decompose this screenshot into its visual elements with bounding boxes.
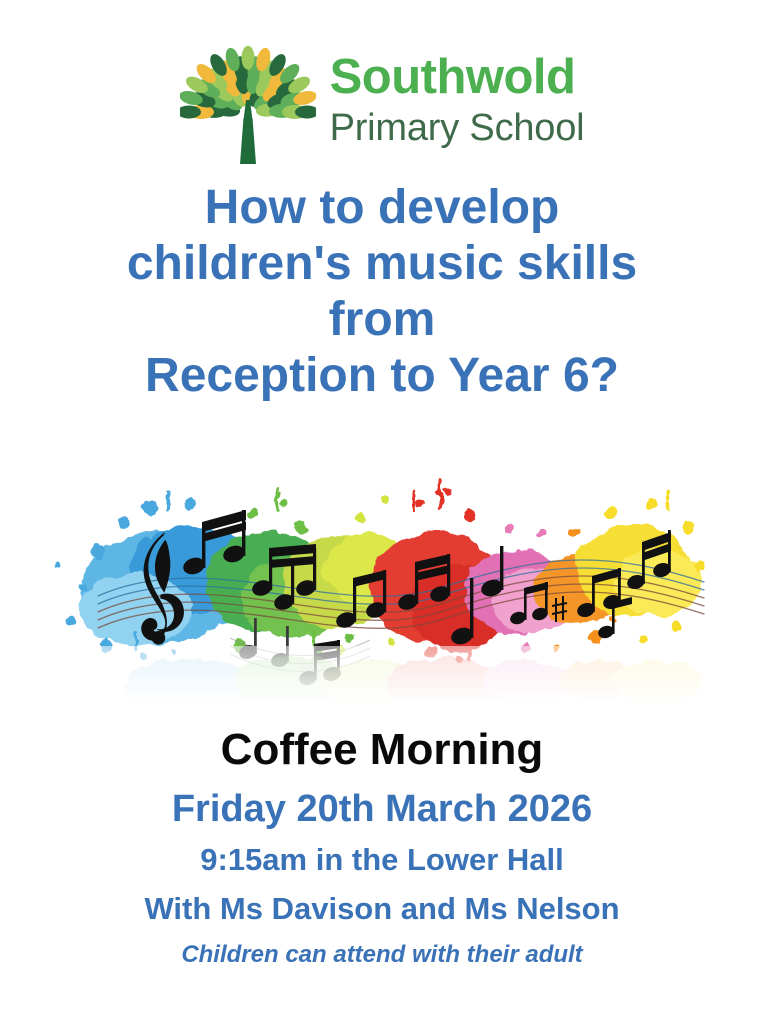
event-date: Friday 20th March 2026	[0, 788, 764, 831]
poster-headline: How to develop children's music skills f…	[0, 180, 764, 405]
school-name: Southwold Primary School	[330, 47, 585, 147]
event-details: Coffee Morning Friday 20th March 2026 9:…	[0, 725, 764, 969]
music-splash-illustration	[40, 470, 724, 705]
headline-line-3: from	[0, 292, 764, 348]
poster-canvas: Southwold Primary School How to develop …	[0, 0, 764, 1024]
event-time-location: 9:15am in the Lower Hall	[0, 843, 764, 878]
school-name-secondary: Primary School	[330, 109, 585, 147]
school-name-primary: Southwold	[330, 53, 576, 102]
tree-logo-icon	[180, 26, 316, 168]
headline-line-1: How to develop	[0, 180, 764, 236]
event-note: Children can attend with their adult	[0, 942, 764, 969]
headline-line-4: Reception to Year 6?	[0, 348, 764, 404]
headline-line-2: children's music skills	[0, 236, 764, 292]
school-logo: Southwold Primary School	[0, 22, 764, 172]
event-title: Coffee Morning	[0, 725, 764, 774]
event-hosts: With Ms Davison and Ms Nelson	[0, 892, 764, 927]
